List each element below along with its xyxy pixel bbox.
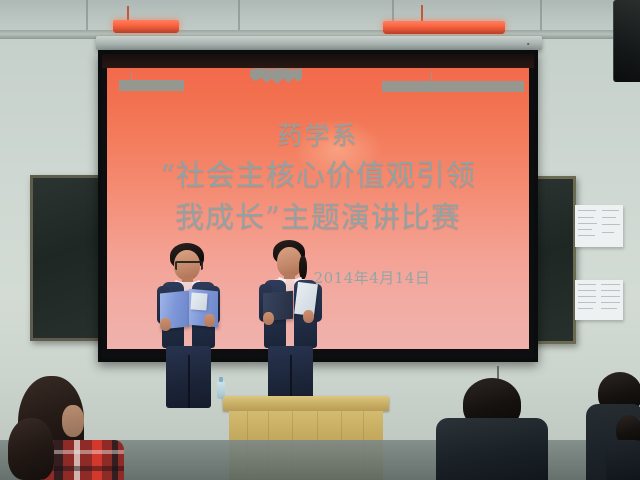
slide-title-department: 药学系 xyxy=(107,116,529,152)
glasses-icon xyxy=(175,261,203,270)
wall-notice-upper xyxy=(575,205,623,247)
presenter-hand-left xyxy=(263,312,274,325)
presenter-hand-right xyxy=(303,310,314,323)
screen-top-shadow xyxy=(102,54,534,68)
ceiling-lamp-right xyxy=(383,21,505,33)
housing-brand-label: ■ xyxy=(527,41,530,46)
slide-deco-tick xyxy=(431,72,432,82)
presenter-trousers xyxy=(166,346,211,408)
classroom-photo-scene: ■ 药学系 “社会主核心价值观引领 我成长”主题演讲比赛 2014年4月14日 xyxy=(0,0,640,480)
slide-deco-jagged-shape xyxy=(250,68,302,85)
lamp-rod xyxy=(421,5,423,21)
ceiling-seam xyxy=(86,0,88,34)
ceiling-seam xyxy=(540,0,542,34)
slide-deco-bar-left xyxy=(119,80,184,91)
slide-deco-tick xyxy=(131,72,132,81)
wall-notice-lower xyxy=(575,280,623,320)
lamp-rod xyxy=(127,6,129,20)
slide-title-line-2: 我成长”主题演讲比赛 xyxy=(107,194,529,236)
presenter-hand-right xyxy=(204,314,215,327)
slide-deco-bar-right xyxy=(382,81,524,92)
audience-face xyxy=(62,405,84,437)
slide-title-line-1: “社会主核心价值观引领 xyxy=(107,152,529,194)
projector-screen-housing: ■ xyxy=(96,36,542,50)
presenter-hand-left xyxy=(160,318,171,331)
audience-hair-strand xyxy=(8,418,54,480)
wall-speaker-icon xyxy=(613,0,640,82)
ceiling xyxy=(0,0,640,34)
audience-jacket xyxy=(606,440,640,480)
lectern-top xyxy=(223,396,389,411)
ceiling-lamp-left xyxy=(113,20,179,32)
presenter-script-sheet xyxy=(190,292,207,310)
ceiling-seam xyxy=(238,0,240,34)
audience-jacket xyxy=(436,418,548,480)
